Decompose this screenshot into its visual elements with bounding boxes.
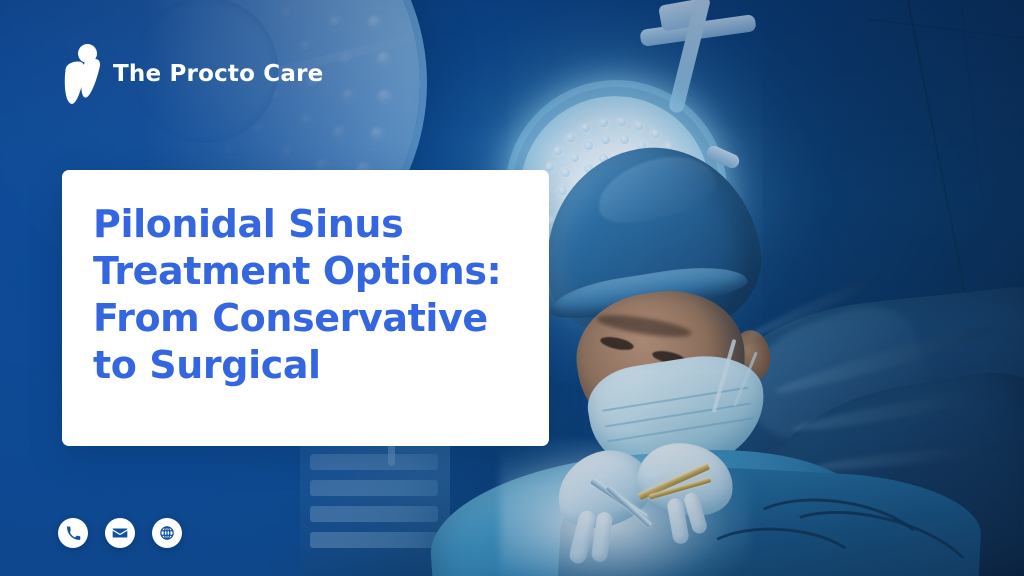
globe-icon[interactable] <box>152 518 182 548</box>
title-card: Pilonidal Sinus Treatment Options: From … <box>62 170 549 446</box>
page-title: Pilonidal Sinus Treatment Options: From … <box>93 201 523 389</box>
brand-logo[interactable]: The Procto Care <box>60 44 323 104</box>
brand-name: The Procto Care <box>113 61 323 87</box>
person-swoosh-icon <box>60 44 104 104</box>
email-icon[interactable] <box>105 518 135 548</box>
phone-icon[interactable] <box>58 518 88 548</box>
contact-icons <box>58 518 182 548</box>
banner-canvas: The Procto Care Pilonidal Sinus Treatmen… <box>0 0 1024 576</box>
